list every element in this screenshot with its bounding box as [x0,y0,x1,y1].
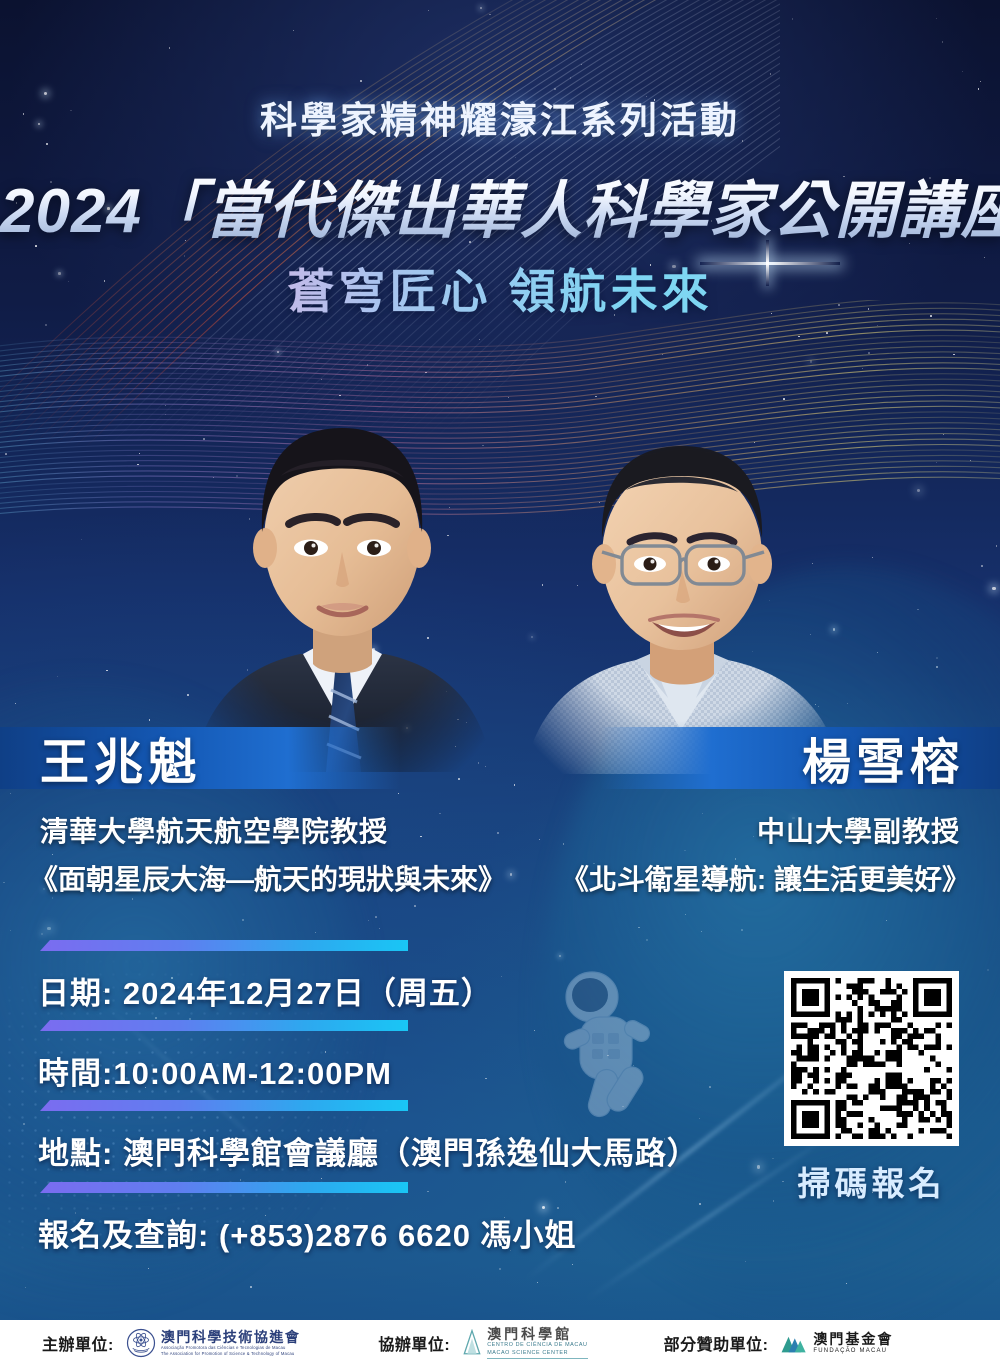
detail-venue: 地點: 澳門科學館會議廳（澳門孫逸仙大馬路） [38,1128,699,1173]
sponsor-label: 部分贊助單位: [664,1331,769,1355]
speaker-1-portrait [185,372,500,772]
footer-group-sponsor: 部分贊助單位: 澳門基金會 FUNDAÇÃO MACAU [664,1330,894,1356]
organizer-logo: 澳門科學技術協進會 Associação Promotora das Ciênc… [126,1328,301,1358]
speaker-1-nameplate: 王兆魁 [0,727,400,789]
organizer-name-pt: Associação Promotora das Ciências e Tecn… [161,1346,301,1350]
atom-circle-icon [126,1328,156,1358]
sponsor-logo: 澳門基金會 FUNDAÇÃO MACAU [780,1330,893,1356]
astronaut-decoration [540,965,700,1135]
footer-group-coorganizer: 協辦單位: 澳門科學館 CENTRO DE CIÊNCIA DE MACAU M… [378,1327,587,1359]
coorganizer-logo: 澳門科學館 CENTRO DE CIÊNCIA DE MACAU MACAO S… [462,1327,587,1359]
organizer-label: 主辦單位: [42,1331,114,1355]
speaker-1-name: 王兆魁 [40,723,202,794]
qr-code-label: 掃碼報名 [784,1157,959,1205]
detail-divider-bar [40,1100,408,1111]
page-title: 2024「當代傑出華人科學家公開講座」 [0,160,1000,250]
detail-divider-bar [40,940,408,951]
organizer-name-cn: 澳門科學技術協進會 [161,1330,301,1344]
logo-underline-rule [487,1358,587,1359]
detail-divider-bar [40,1020,408,1031]
detail-date: 日期: 2024年12月27日（周五） [38,968,493,1013]
speaker-1-affiliation: 清華大學航天航空學院教授 [40,810,388,850]
sparkle-flare-decoration [700,262,840,265]
qr-code-icon [791,978,952,1139]
speaker-2-name: 楊雪榕 [802,723,964,794]
sponsor-name-cn: 澳門基金會 [813,1332,893,1346]
sponsor-footer: 主辦單位: 澳門科學技術協進會 Associação Promotora [0,1320,1000,1366]
event-series-kicker: 科學家精神耀濠江系列活動 [0,90,1000,144]
page-subtitle: 蒼穹匠心 領航未來 [0,253,1000,322]
coorganizer-name-en: MACAO SCIENCE CENTER [487,1351,587,1356]
speaker-2-affiliation: 中山大學副教授 [757,810,960,850]
footer-group-organizer: 主辦單位: 澳門科學技術協進會 Associação Promotora [42,1328,300,1358]
organizer-name-en: The Association for Promotion of Science… [161,1352,301,1356]
coorganizer-name-pt: CENTRO DE CIÊNCIA DE MACAU [487,1343,587,1348]
detail-divider-bar [40,1182,408,1193]
ribbon-wave-decoration [0,300,1000,600]
detail-time: 時間:10:00AM-12:00PM [38,1048,392,1093]
registration-qr-code[interactable] [784,971,959,1146]
sponsor-name-pt: FUNDAÇÃO MACAU [813,1348,893,1354]
speaker-1-talk-title: 《面朝星辰大海—航天的現狀與未來》 [30,858,506,898]
coorganizer-name-cn: 澳門科學館 [487,1327,587,1341]
macau-foundation-icon [780,1330,808,1356]
poster-root: 科學家精神耀濠江系列活動 2024「當代傑出華人科學家公開講座」 蒼穹匠心 領航… [0,0,1000,1366]
speaker-2-portrait [518,398,848,774]
coorganizer-label: 協辦單位: [378,1331,450,1355]
speaker-2-nameplate: 楊雪榕 [600,727,1000,789]
detail-contact: 報名及查詢: (+853)2876 6620 馮小姐 [38,1210,577,1255]
speaker-2-talk-title: 《北斗衛星導航: 讓生活更美好》 [561,858,970,898]
science-center-cone-icon [462,1329,482,1357]
